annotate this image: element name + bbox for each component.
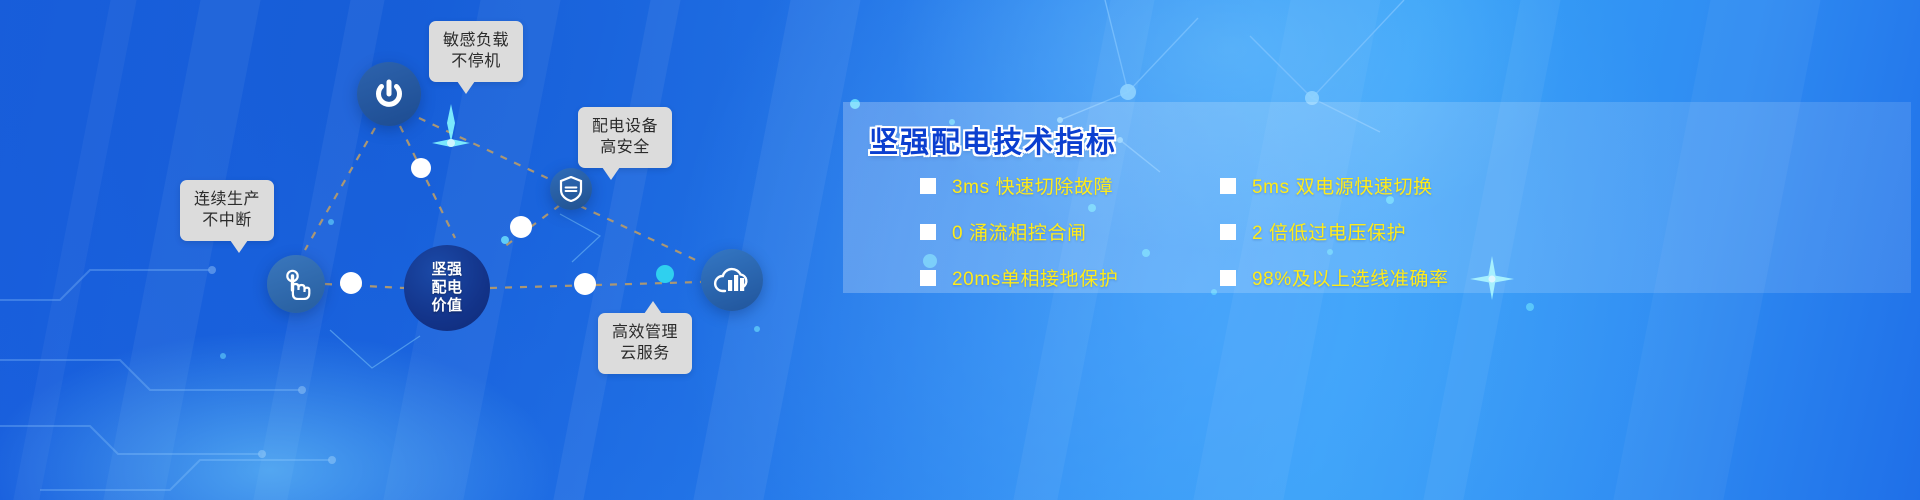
bullet-square-icon <box>920 270 936 286</box>
callout-line-2: 高安全 <box>592 137 658 158</box>
metric-label: 98%及以上选线准确率 <box>1252 264 1449 291</box>
hub-center-label: 坚强 配电 价值 <box>404 245 490 331</box>
metric-label: 5ms 双电源快速切换 <box>1252 172 1433 199</box>
cloud-chart-icon <box>713 264 751 296</box>
bullet-square-icon <box>920 224 936 240</box>
metric-label: 0 涌流相控合闸 <box>952 218 1087 245</box>
hand-touch-icon-node[interactable] <box>267 255 325 313</box>
shield-icon <box>559 176 583 202</box>
hub-line-2: 配电 <box>431 279 462 297</box>
callout-distribution-equipment: 配电设备 高安全 <box>578 107 672 168</box>
metric-item: 20ms单相接地保护 <box>920 264 1220 291</box>
power-icon-node[interactable] <box>357 62 421 126</box>
metric-item: 98%及以上选线准确率 <box>1220 264 1520 291</box>
callout-line-1: 敏感负载 <box>443 30 509 51</box>
callout-line-1: 连续生产 <box>194 189 260 210</box>
power-icon <box>372 77 406 111</box>
promo-banner: 坚强 配电 价值 敏感负载 不停机 配电设备 高安全 连续生产 不中断 高效管理… <box>0 0 1920 500</box>
callout-line-2: 不停机 <box>443 51 509 72</box>
hand-touch-icon <box>281 268 311 300</box>
bullet-square-icon <box>1220 224 1236 240</box>
cloud-chart-icon-node[interactable] <box>701 249 763 311</box>
bullet-square-icon <box>920 178 936 194</box>
metric-item: 5ms 双电源快速切换 <box>1220 172 1520 199</box>
callout-sensitive-load: 敏感负载 不停机 <box>429 21 523 82</box>
metric-item: 0 涌流相控合闸 <box>920 218 1220 245</box>
metrics-list: 3ms 快速切除故障 5ms 双电源快速切换 0 涌流相控合闸 2 倍低过电压保… <box>920 172 1620 291</box>
hub-line-3: 价值 <box>431 297 462 315</box>
panel-title: 坚强配电技术指标 <box>869 119 1117 161</box>
metric-item: 2 倍低过电压保护 <box>1220 218 1520 245</box>
callout-cloud-management: 高效管理 云服务 <box>598 313 692 374</box>
callout-continuous-production: 连续生产 不中断 <box>180 180 274 241</box>
callout-line-1: 高效管理 <box>612 322 678 343</box>
bullet-square-icon <box>1220 270 1236 286</box>
shield-icon-node[interactable] <box>550 168 592 210</box>
callout-line-1: 配电设备 <box>592 116 658 137</box>
metric-label: 20ms单相接地保护 <box>952 264 1118 291</box>
callout-line-2: 云服务 <box>612 343 678 364</box>
bullet-square-icon <box>1220 178 1236 194</box>
metric-item: 3ms 快速切除故障 <box>920 172 1220 199</box>
hub-line-1: 坚强 <box>431 261 462 279</box>
callout-line-2: 不中断 <box>194 210 260 231</box>
metric-label: 3ms 快速切除故障 <box>952 172 1113 199</box>
metric-label: 2 倍低过电压保护 <box>1252 218 1406 245</box>
